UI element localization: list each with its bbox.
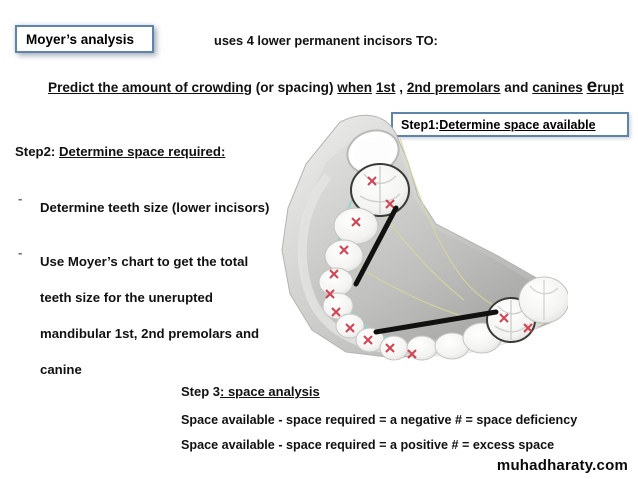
list-item-line: Determine teeth size (lower incisors) — [40, 190, 269, 226]
predict-segment-e-large: e — [587, 76, 598, 97]
predict-segment-canines: canines — [532, 80, 583, 95]
predict-segment-1: Predict the amount of crowding — [48, 80, 252, 95]
title-callout-label: Moyer’s analysis — [26, 32, 134, 47]
list-item-text: Use Moyer’s chart to get the total teeth… — [40, 244, 259, 388]
step2-heading: Step2: Determine space required: — [15, 144, 225, 159]
slide-canvas: Moyer’s analysis uses 4 lower permanent … — [0, 0, 638, 479]
step2-underlined-label: Determine space required: — [59, 144, 225, 159]
list-item-line: mandibular 1st, 2nd premolars and — [40, 316, 259, 352]
predict-crowding-line: Predict the amount of crowding (or spaci… — [48, 79, 624, 95]
predict-segment-when: when — [337, 80, 372, 95]
step3-prefix: Step 3 — [181, 384, 220, 399]
list-item-text: Determine teeth size (lower incisors) — [40, 190, 269, 226]
step3-underlined-label: : space analysis — [220, 384, 320, 399]
title-callout-moyers-analysis: Moyer’s analysis — [15, 25, 154, 53]
mandibular-dental-cast-scan — [268, 104, 568, 366]
step3-equation-excess: Space available - space required = a pos… — [181, 438, 577, 452]
watermark-muhadharaty: muhadharaty.com — [497, 457, 628, 474]
step3-heading: Step 3: space analysis — [181, 384, 577, 399]
step2-prefix: Step2: — [15, 144, 59, 159]
list-item-line: teeth size for the unerupted — [40, 280, 259, 316]
predict-segment-comma: , — [395, 80, 406, 95]
step3-section: Step 3: space analysis Space available -… — [181, 384, 577, 463]
predict-segment-2: (or spacing) — [252, 80, 337, 95]
predict-segment-first-premolar: 1st — [376, 80, 396, 95]
list-item-line: canine — [40, 352, 259, 388]
list-item-line: Use Moyer’s chart to get the total — [40, 244, 259, 280]
predict-segment-rupt: rupt — [597, 80, 623, 95]
step3-equation-deficiency: Space available - space required = a neg… — [181, 413, 577, 427]
uses-incisors-line: uses 4 lower permanent incisors TO: — [214, 33, 438, 48]
predict-segment-second-premolars: 2nd premolars — [407, 80, 501, 95]
predict-segment-and: and — [501, 80, 533, 95]
bullet-dash-icon: - — [18, 244, 40, 260]
bullet-dash-icon: - — [18, 190, 40, 206]
